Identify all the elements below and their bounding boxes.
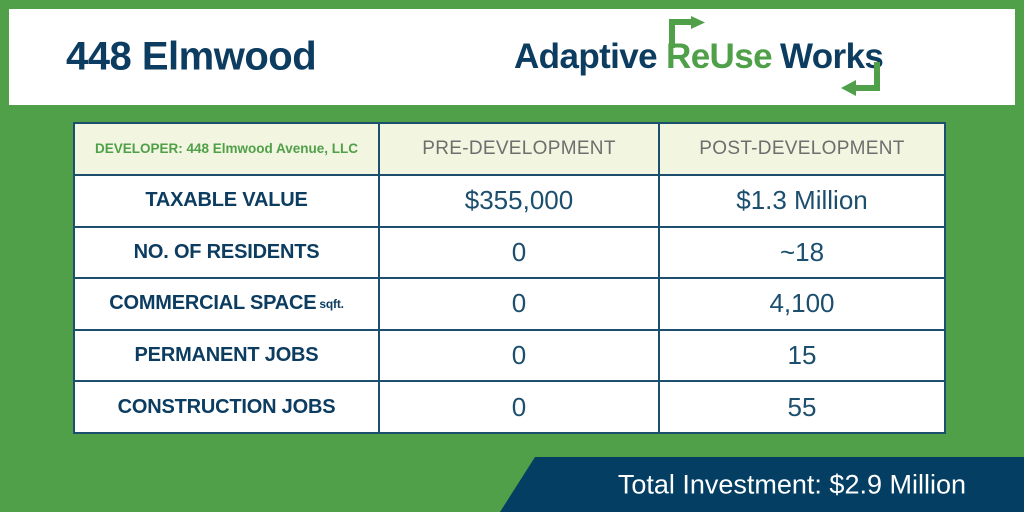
row-label-cell: COMMERCIAL SPACEsqft. — [75, 279, 380, 329]
row-pre-value: 0 — [512, 340, 526, 371]
row-post-value: 15 — [788, 340, 817, 371]
table-row: TAXABLE VALUE $355,000 $1.3 Million — [75, 176, 944, 228]
infographic-root: 448 Elmwood AdaptiveReUseWorks DEVELOPER… — [0, 0, 1024, 512]
arrow-up-right-icon — [669, 16, 709, 48]
row-post-cell: $1.3 Million — [660, 176, 944, 226]
row-pre-value: 0 — [512, 288, 526, 319]
developer-label: DEVELOPER: 448 Elmwood Avenue, LLC — [95, 141, 358, 158]
row-pre-value: 0 — [512, 237, 526, 268]
column-header-pre: PRE-DEVELOPMENT — [380, 124, 660, 174]
header-card: 448 Elmwood AdaptiveReUseWorks — [9, 9, 1015, 105]
page-title: 448 Elmwood — [66, 35, 316, 80]
row-post-cell: ~18 — [660, 228, 944, 278]
table-header-row: DEVELOPER: 448 Elmwood Avenue, LLC PRE-D… — [75, 124, 944, 176]
column-header-pre-label: PRE-DEVELOPMENT — [422, 138, 615, 160]
table-row: CONSTRUCTION JOBS 0 55 — [75, 382, 944, 434]
row-label-cell: NO. OF RESIDENTS — [75, 228, 380, 278]
row-label-cell: PERMANENT JOBS — [75, 331, 380, 381]
comparison-table: DEVELOPER: 448 Elmwood Avenue, LLC PRE-D… — [73, 122, 946, 434]
row-label: CONSTRUCTION JOBS — [118, 396, 336, 419]
row-post-value: 55 — [788, 392, 817, 423]
row-label: NO. OF RESIDENTS — [134, 241, 320, 264]
column-header-post-label: POST-DEVELOPMENT — [699, 138, 904, 160]
row-label: PERMANENT JOBS — [135, 344, 319, 367]
row-pre-value: 0 — [512, 392, 526, 423]
logo-word-adaptive: Adaptive — [514, 37, 657, 76]
row-pre-cell: 0 — [380, 279, 660, 329]
column-header-post: POST-DEVELOPMENT — [660, 124, 944, 174]
row-label: COMMERCIAL SPACE — [109, 292, 316, 315]
table-row: PERMANENT JOBS 0 15 — [75, 331, 944, 383]
total-investment-banner: Total Investment: $2.9 Million — [0, 457, 1024, 512]
row-post-cell: 15 — [660, 331, 944, 381]
row-pre-cell: 0 — [380, 228, 660, 278]
row-post-cell: 4,100 — [660, 279, 944, 329]
row-pre-cell: 0 — [380, 382, 660, 434]
row-post-cell: 55 — [660, 382, 944, 434]
row-pre-cell: $355,000 — [380, 176, 660, 226]
table-row: COMMERCIAL SPACEsqft. 0 4,100 — [75, 279, 944, 331]
row-pre-value: $355,000 — [465, 185, 573, 216]
row-label: TAXABLE VALUE — [145, 189, 307, 212]
developer-cell: DEVELOPER: 448 Elmwood Avenue, LLC — [75, 124, 380, 174]
row-label-cell: CONSTRUCTION JOBS — [75, 382, 380, 434]
row-pre-cell: 0 — [380, 331, 660, 381]
row-post-value: ~18 — [780, 237, 824, 268]
total-investment-label: Total Investment: $2.9 Million — [618, 469, 966, 500]
row-post-value: 4,100 — [769, 288, 834, 319]
row-post-value: $1.3 Million — [736, 185, 868, 216]
row-label-cell: TAXABLE VALUE — [75, 176, 380, 226]
adaptive-reuse-works-logo: AdaptiveReUseWorks — [514, 22, 954, 92]
arrow-down-left-icon — [836, 62, 880, 96]
table-row: NO. OF RESIDENTS 0 ~18 — [75, 228, 944, 280]
row-label-unit: sqft. — [319, 297, 343, 311]
